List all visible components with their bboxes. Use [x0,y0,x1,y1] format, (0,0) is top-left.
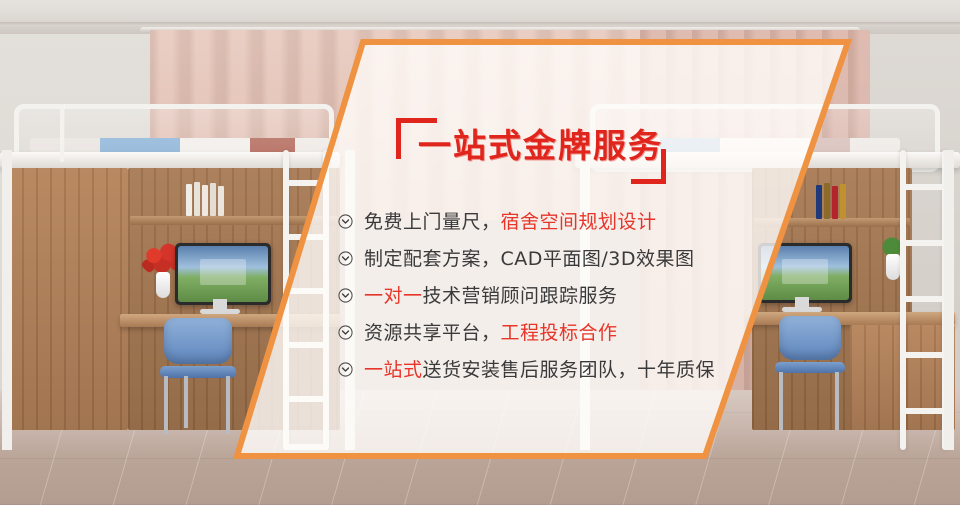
text-highlight: 宿舍空间规划设计 [501,211,657,233]
heading-block: 一站式金牌服务 [396,118,666,184]
list-item: 资源共享平台，工程投标合作 [338,314,738,351]
list-item: 一对一技术营销顾问跟踪服务 [338,277,738,314]
text-highlight: 工程投标合作 [501,322,618,344]
banner-stage: 一站式金牌服务 免费上门量尺，宿舍空间规划设计 制定配套方案，CAD平面图/3D… [0,0,960,505]
list-item: 免费上门量尺，宿舍空间规划设计 [338,203,738,240]
chevron-down-circle-icon [338,325,353,340]
chevron-down-circle-icon [338,251,353,266]
list-item-text: 一对一技术营销顾问跟踪服务 [364,284,618,308]
page-title: 一站式金牌服务 [418,123,663,169]
text-plain-before: 免费上门量尺， [364,211,501,233]
text-plain-after: 技术营销顾问跟踪服务 [423,285,618,307]
text-highlight: 一对一 [364,285,423,307]
text-plain-before: 制定配套方案，CAD平面图/3D效果图 [364,248,695,270]
list-item-text: 资源共享平台，工程投标合作 [364,321,618,345]
overlay-content: 一站式金牌服务 免费上门量尺，宿舍空间规划设计 制定配套方案，CAD平面图/3D… [0,0,960,505]
list-item-text: 一站式送货安装售后服务团队，十年质保 [364,358,715,382]
list-item: 制定配套方案，CAD平面图/3D效果图 [338,240,738,277]
text-plain-after: 送货安装售后服务团队，十年质保 [423,359,716,381]
text-highlight: 一站式 [364,359,423,381]
text-plain-before: 资源共享平台， [364,322,501,344]
list-item-text: 免费上门量尺，宿舍空间规划设计 [364,210,657,234]
chevron-down-circle-icon [338,362,353,377]
list-item-text: 制定配套方案，CAD平面图/3D效果图 [364,247,695,271]
feature-list: 免费上门量尺，宿舍空间规划设计 制定配套方案，CAD平面图/3D效果图 一对一技… [338,203,738,388]
list-item: 一站式送货安装售后服务团队，十年质保 [338,351,738,388]
chevron-down-circle-icon [338,214,353,229]
chevron-down-circle-icon [338,288,353,303]
